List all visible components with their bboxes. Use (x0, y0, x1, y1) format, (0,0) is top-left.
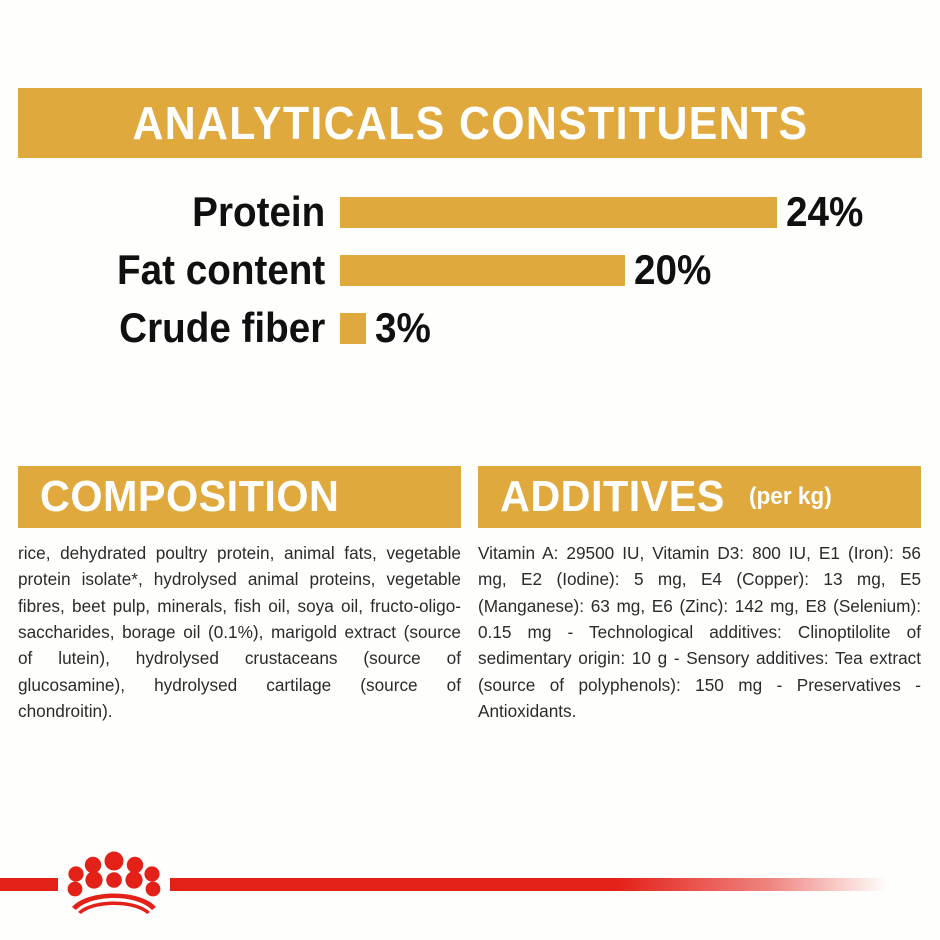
nutrient-bar-protein (340, 197, 777, 228)
nutrient-value-protein: 24% (786, 191, 863, 233)
composition-header-band: COMPOSITION (18, 466, 461, 528)
analyticals-header-band: ANALYTICALS CONSTITUENTS (18, 88, 922, 158)
additives-section: ADDITIVES (per kg) Vitamin A: 29500 IU, … (478, 466, 921, 766)
footer-brand-bar (0, 848, 940, 940)
nutrient-row-crude-fiber: Crude fiber 3% (0, 302, 940, 354)
footer-rule-left (0, 878, 58, 891)
info-columns: COMPOSITION rice, dehydrated poultry pro… (18, 466, 922, 766)
nutrient-label-crude-fiber: Crude fiber (27, 307, 340, 349)
nutrient-label-fat-content: Fat content (27, 249, 340, 291)
analyticals-heading: ANALYTICALS CONSTITUENTS (132, 100, 808, 146)
nutrition-info-panel: ANALYTICALS CONSTITUENTS Protein 24% Fat… (0, 0, 940, 940)
additives-header-band: ADDITIVES (per kg) (478, 466, 921, 528)
additives-heading: ADDITIVES (500, 475, 725, 519)
additives-heading-suffix: (per kg) (749, 485, 832, 509)
nutrient-row-fat-content: Fat content 20% (0, 244, 940, 296)
nutrient-bar-crude-fiber (340, 313, 366, 344)
footer-rule-right (170, 878, 940, 891)
analyticals-bar-chart: Protein 24% Fat content 20% Crude fiber … (0, 186, 940, 361)
composition-heading: COMPOSITION (40, 475, 339, 519)
additives-body-text: Vitamin A: 29500 IU, Vitamin D3: 800 IU,… (478, 540, 921, 724)
nutrient-value-crude-fiber: 3% (375, 307, 431, 349)
composition-body-text: rice, dehydrated poultry protein, animal… (18, 540, 461, 724)
composition-section: COMPOSITION rice, dehydrated poultry pro… (18, 466, 461, 766)
nutrient-value-fat-content: 20% (634, 249, 711, 291)
nutrient-row-protein: Protein 24% (0, 186, 940, 238)
nutrient-label-protein: Protein (27, 191, 340, 233)
nutrient-bar-fat-content (340, 255, 625, 286)
royal-canin-crown-icon (60, 850, 168, 914)
